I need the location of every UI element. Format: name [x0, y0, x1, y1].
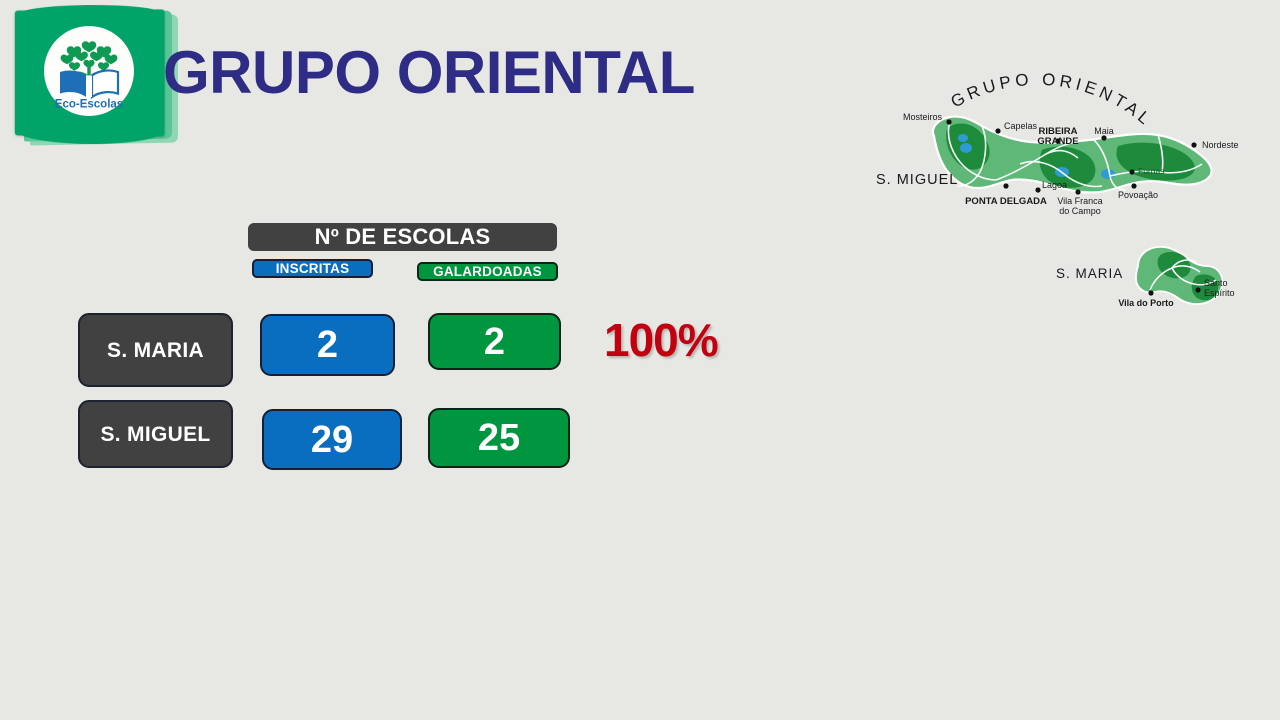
percentage-s-maria: 100%: [604, 317, 718, 363]
table-row-label-s-miguel: S. MIGUEL: [78, 400, 233, 468]
svg-text:Espírito: Espírito: [1204, 288, 1235, 298]
map-label-mosteiros: Mosteiros: [903, 112, 943, 122]
map-label-ponta-delgada: PONTA DELGADA: [965, 196, 1047, 207]
map-label-sao-miguel: S. MIGUEL: [876, 172, 958, 188]
table-cell-s-miguel-galardoadas: 25: [428, 408, 570, 468]
lake-sete-cidades: [958, 134, 968, 142]
map-label-santo-espirito: Santo: [1204, 278, 1228, 288]
table-header-galardoadas: GALARDOADAS: [417, 262, 558, 281]
table-cell-s-miguel-inscritas: 29: [262, 409, 402, 470]
logo-disc: Eco-Escolas: [44, 26, 134, 116]
map-label-povoacao: Povoação: [1118, 190, 1158, 200]
map-title: GRUPO ORIENTAL: [948, 70, 1157, 131]
table-cell-s-maria-inscritas: 2: [260, 314, 395, 376]
azores-eastern-group-map: GRUPO ORIENTAL: [846, 14, 1266, 344]
map-label-nordeste: Nordeste: [1202, 140, 1239, 150]
table-row-label-s-maria: S. MARIA: [78, 313, 233, 387]
map-label-vila-do-porto: Vila do Porto: [1118, 298, 1174, 308]
table-header-total: Nº DE ESCOLAS: [248, 223, 557, 251]
svg-text:GRANDE: GRANDE: [1037, 136, 1078, 147]
map-label-santa-maria: S. MARIA: [1056, 266, 1123, 281]
table-header-inscritas: INSCRITAS: [252, 259, 373, 278]
map-label-maia: Maia: [1094, 126, 1114, 136]
logo-text: Eco-Escolas: [55, 99, 123, 111]
table-cell-s-maria-galardoadas: 2: [428, 313, 561, 370]
slide-root: Eco-Escolas GRUPO ORIENTAL GRUPO ORIENTA…: [0, 0, 1280, 720]
map-label-capelas: Capelas: [1004, 121, 1038, 131]
map-label-vila-franca: Vila Franca: [1057, 196, 1102, 206]
map-label-lagoa: Lagoa: [1042, 180, 1067, 190]
lake-sete-cidades-2: [960, 143, 972, 153]
map-label-furnas: Furnas: [1138, 166, 1164, 176]
svg-text:do Campo: do Campo: [1059, 206, 1101, 216]
lake-furnas: [1101, 169, 1115, 179]
